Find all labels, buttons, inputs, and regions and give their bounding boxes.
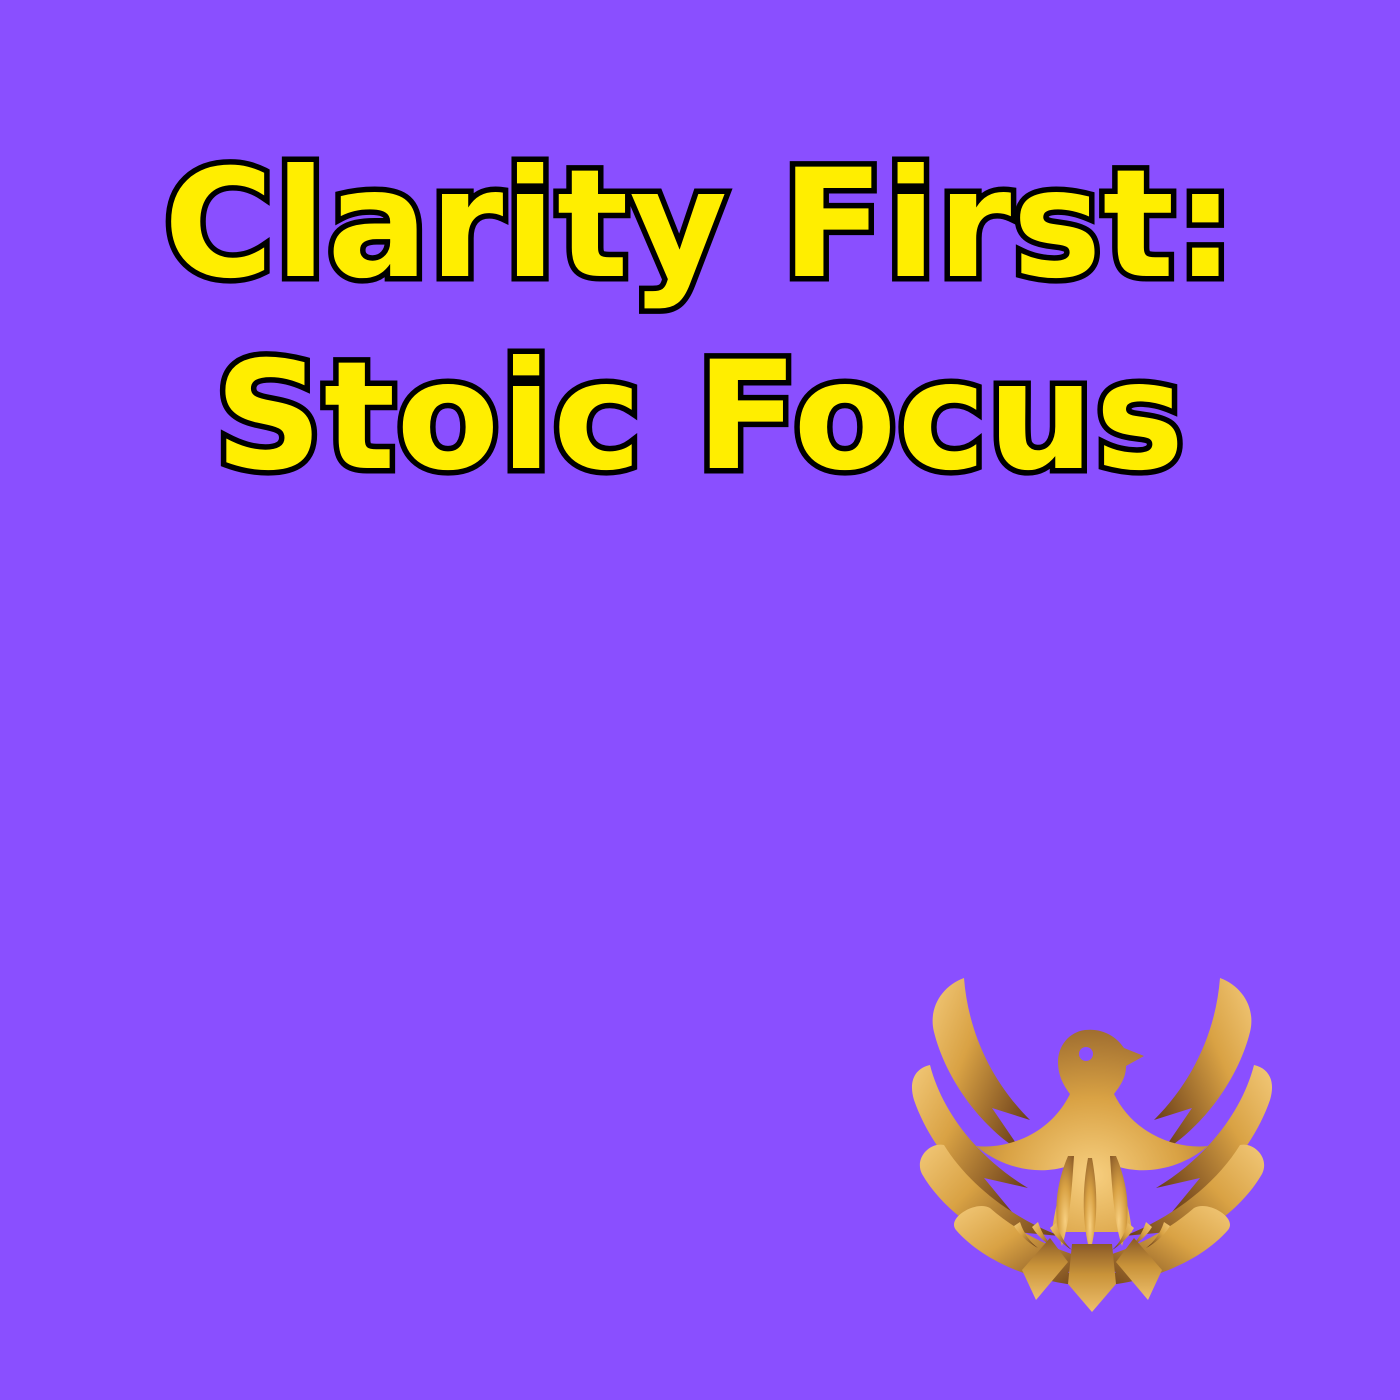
cover-title-block: Clarity First: Stoic Focus bbox=[0, 150, 1400, 492]
podcast-cover-art: Clarity First: Stoic Focus bbox=[0, 0, 1400, 1400]
title-line-primary: Clarity First: bbox=[0, 150, 1400, 300]
tail-feathers-icon bbox=[1056, 1156, 1127, 1252]
phoenix-logo bbox=[872, 960, 1312, 1315]
title-line-secondary: Stoic Focus bbox=[0, 342, 1400, 492]
bird-eye-icon bbox=[1079, 1047, 1093, 1061]
lower-tail-icon bbox=[1022, 1238, 1162, 1312]
phoenix-icon bbox=[872, 960, 1312, 1315]
